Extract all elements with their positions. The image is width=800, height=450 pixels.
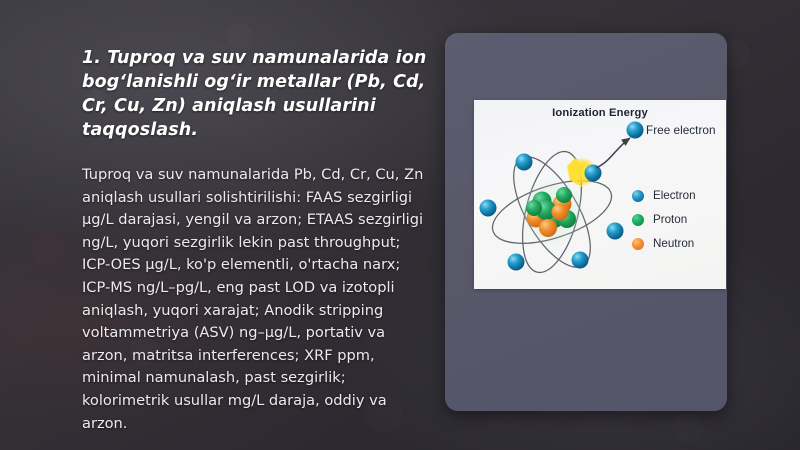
free-electron-label: Free electron	[646, 125, 716, 137]
neutron-dot-icon	[632, 238, 644, 250]
electron-dot-icon	[632, 190, 644, 202]
legend-label-neutron: Neutron	[653, 238, 694, 250]
legend-label-electron: Electron	[653, 190, 696, 202]
free-electron-icon	[627, 122, 644, 139]
figure-image: Ionization Energy	[474, 100, 726, 289]
slide-body-text: Tuproq va suv namunalarida Pb, Cd, Cr, C…	[82, 164, 430, 435]
media-panel: Ionization Energy	[445, 33, 727, 411]
legend-item-proton: Proton	[632, 213, 696, 227]
legend-label-proton: Proton	[653, 214, 687, 226]
proton-dot-icon	[632, 214, 644, 226]
legend-item-neutron: Neutron	[632, 237, 696, 251]
text-column: 1. Tuproq va suv namunalarida ion bog‘la…	[82, 46, 430, 435]
page-title: 1. Tuproq va suv namunalarida ion bog‘la…	[82, 46, 430, 142]
slide-canvas: 1. Tuproq va suv namunalarida ion bog‘la…	[0, 0, 800, 450]
figure-legend: Electron Proton Neutron	[632, 189, 696, 251]
legend-item-electron: Electron	[632, 189, 696, 203]
